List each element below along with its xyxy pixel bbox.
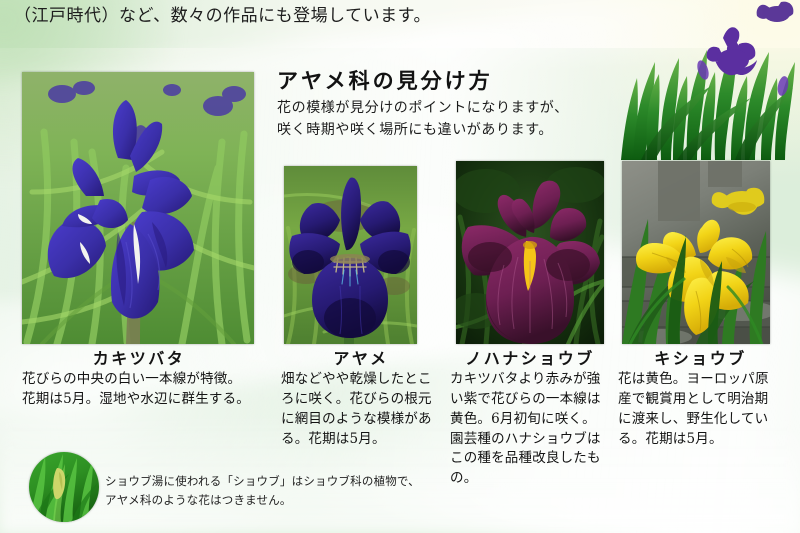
flower-description-ayame: 畑などやや乾燥したとこ ろに咲く。花びらの根元 に網目のような模様があ る。花期… (281, 370, 441, 450)
flower-name-nohanashobu: ノハナショウブ (450, 348, 610, 370)
description-line: に渡来し、野生化してい (618, 410, 783, 430)
flower-caption-kakitsubata: カキツバタ 花びらの中央の白い一本線が特徴。 花期は5月。湿地や水辺に群生する。 (22, 348, 256, 410)
description-line: に網目のような模様があ (281, 410, 441, 430)
flower-caption-ayame: アヤメ 畑などやや乾燥したとこ ろに咲く。花びらの根元 に網目のような模様があ … (281, 348, 441, 449)
flower-caption-kishobu: キショウブ 花は黄色。ヨーロッパ原 産で観賞用として明治期 に渡来し、野生化して… (618, 348, 783, 449)
description-line: 花びらの中央の白い一本線が特徴。 (22, 370, 256, 390)
description-line: い紫で花びらの一本線は (450, 390, 610, 410)
flower-photo-nohanashobu (456, 161, 604, 344)
information-panel: （江戸時代）など、数々の作品にも登場しています。 アヤメ科の見分け方 花の模様が… (0, 0, 800, 533)
description-line: 花期は5月。湿地や水辺に群生する。 (22, 390, 256, 410)
flower-photo-kakitsubata (22, 72, 254, 344)
footnote-text: ショウブ湯に使われる「ショウブ」はショウブ科の植物で、 アヤメ科のような花はつき… (105, 472, 405, 510)
flower-description-kishobu: 花は黄色。ヨーロッパ原 産で観賞用として明治期 に渡来し、野生化してい る。花期… (618, 370, 783, 450)
intro-sentence: （江戸時代）など、数々の作品にも登場しています。 (14, 4, 534, 30)
description-line: の。 (450, 469, 610, 489)
footnote-line: アヤメ科のような花はつきません。 (105, 491, 405, 510)
flower-name-kishobu: キショウブ (618, 348, 783, 370)
footnote-line: ショウブ湯に使われる「ショウブ」はショウブ科の植物で、 (105, 472, 405, 491)
flower-name-kakitsubata: カキツバタ (22, 348, 256, 370)
description-line: カキツバタより赤みが強 (450, 370, 610, 390)
iris-leaves-illustration (615, 0, 800, 165)
heading-block: アヤメ科の見分け方 花の模様が見分けのポイントになりますが、 咲く時期や咲く場所… (277, 68, 607, 142)
description-line: 園芸種のハナショウブは (450, 430, 610, 450)
flower-description-kakitsubata: 花びらの中央の白い一本線が特徴。 花期は5月。湿地や水辺に群生する。 (22, 370, 256, 410)
subtitle-line-2: 咲く時期や咲く場所にも違いがあります。 (277, 120, 607, 142)
description-line: 花は黄色。ヨーロッパ原 (618, 370, 783, 390)
subtitle-line-1: 花の模様が見分けのポイントになりますが、 (277, 98, 607, 120)
page-title: アヤメ科の見分け方 (277, 68, 607, 94)
description-line: ろに咲く。花びらの根元 (281, 390, 441, 410)
description-line: 産で観賞用として明治期 (618, 390, 783, 410)
description-line: る。花期は5月。 (281, 430, 441, 450)
description-line: る。花期は5月。 (618, 430, 783, 450)
page-subtitle: 花の模様が見分けのポイントになりますが、 咲く時期や咲く場所にも違いがあります。 (277, 98, 607, 141)
flower-photo-ayame (284, 166, 417, 344)
description-line: この種を品種改良したも (450, 449, 610, 469)
description-line: 黄色。6月初旬に咲く。 (450, 410, 610, 430)
flower-description-nohanashobu: カキツバタより赤みが強 い紫で花びらの一本線は 黄色。6月初旬に咲く。 園芸種の… (450, 370, 610, 490)
description-line: 畑などやや乾燥したとこ (281, 370, 441, 390)
flower-caption-nohanashobu: ノハナショウブ カキツバタより赤みが強 い紫で花びらの一本線は 黄色。6月初旬に… (450, 348, 610, 489)
flower-photo-kishobu (622, 161, 770, 344)
footnote-photo-shobu (29, 452, 99, 522)
flower-name-ayame: アヤメ (281, 348, 441, 370)
